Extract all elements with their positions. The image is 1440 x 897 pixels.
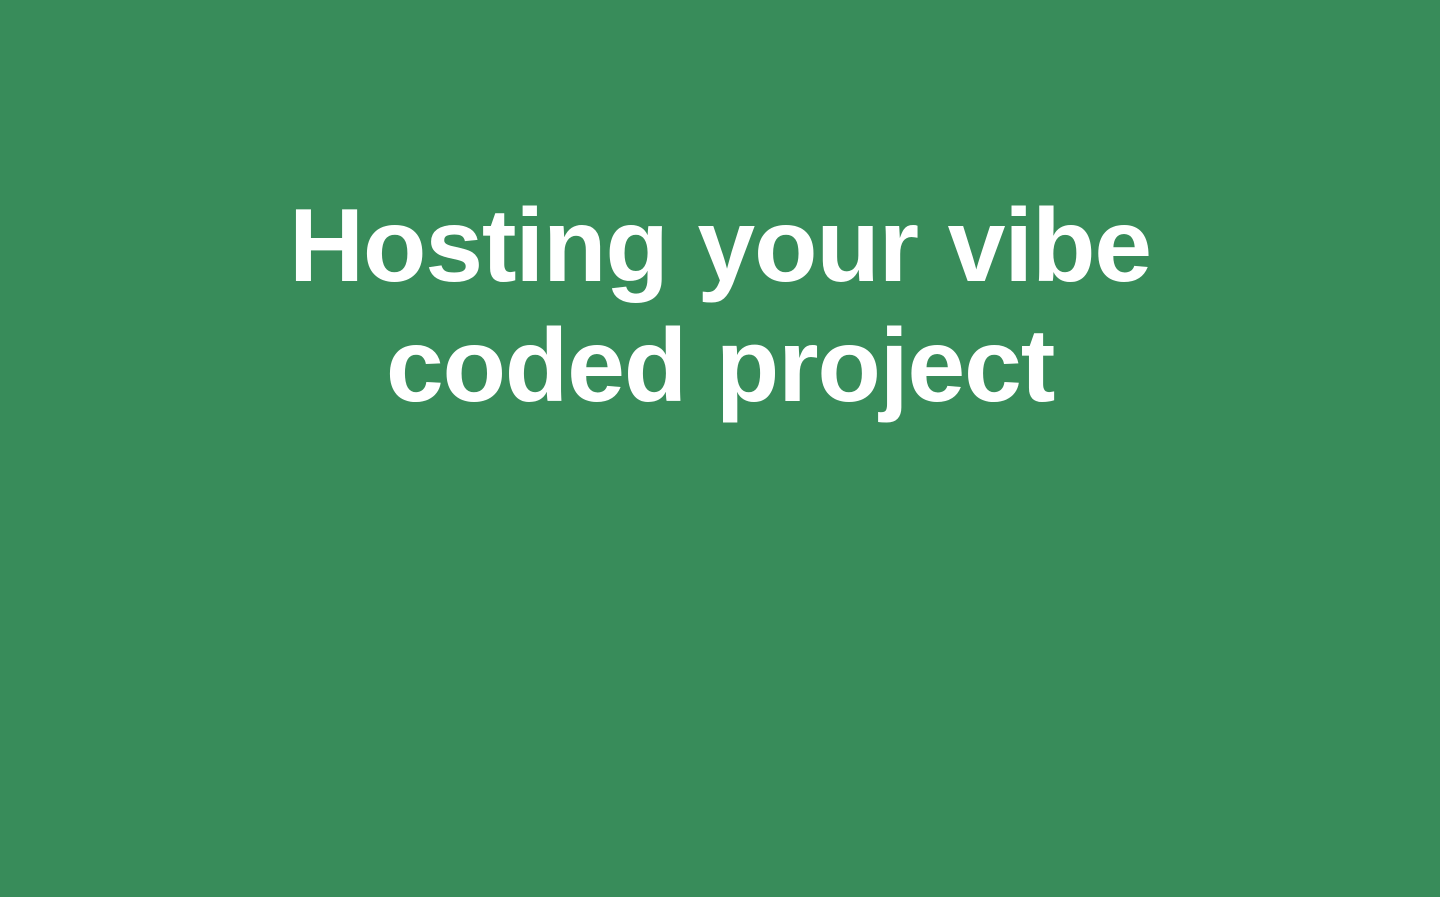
page-title: Hosting your vibe coded project (0, 186, 1440, 426)
title-block: Hosting your vibe coded project (0, 0, 1440, 426)
slide-canvas: Hosting your vibe coded project (0, 0, 1440, 897)
